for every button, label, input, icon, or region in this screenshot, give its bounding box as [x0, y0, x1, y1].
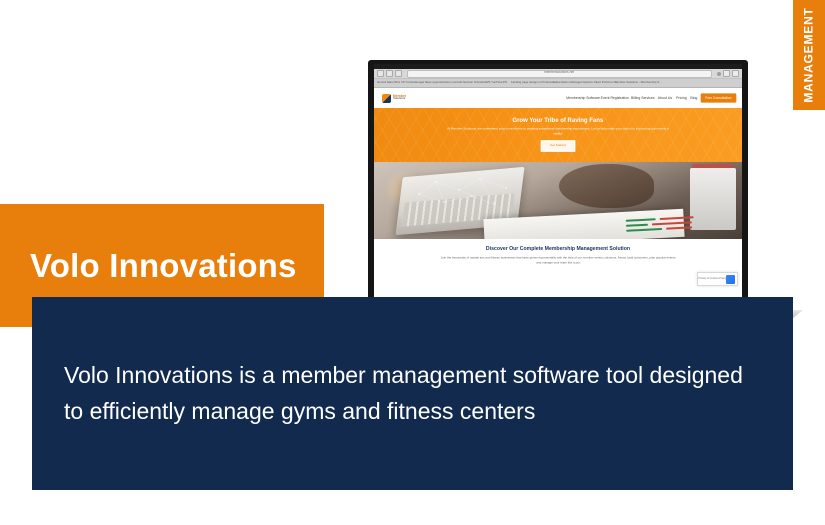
logo-wordmark: Member Solutions — [393, 95, 405, 101]
category-tab-label: MANAGEMENT — [802, 7, 816, 102]
browser-window: membersolutions.net Gemini Nano BC1 727 … — [374, 64, 742, 305]
nav-item-event-registration[interactable]: Event Registration — [601, 96, 629, 99]
laptop-screen: membersolutions.net Gemini Nano BC1 727 … — [368, 60, 748, 310]
logo-mark-icon — [382, 94, 391, 103]
bookmark-item[interactable]: Landing page design on Pinterest... — [511, 82, 556, 85]
photo-chart-bar — [666, 226, 692, 229]
bookmark-item[interactable]: Gemini Nano BC1 727 la Revi... — [377, 82, 418, 85]
photo-chart-bar — [626, 218, 656, 222]
address-bar-url: membersolutions.net — [544, 72, 574, 75]
site-nav: Membership Software Event Registration B… — [569, 94, 734, 102]
laptop-mockup: membersolutions.net Gemini Nano BC1 727 … — [311, 60, 803, 335]
free-consultation-button[interactable]: Free Consultation — [701, 93, 736, 102]
browser-toolbar: membersolutions.net — [374, 69, 742, 79]
photo-chart-bar — [626, 224, 648, 227]
bookmark-item[interactable]: Images Explore Client Portal to C... — [573, 82, 618, 85]
add-tab-icon[interactable] — [723, 70, 730, 77]
site-header: Member Solutions Membership Software Eve… — [374, 88, 742, 108]
description-text: Volo Innovations is a member management … — [64, 358, 757, 429]
bookmark-item[interactable]: AWS YouTube — [484, 82, 502, 85]
hero-title: Grow Your Tribe of Raving Fans — [513, 119, 604, 125]
solution-title: Discover Our Complete Membership Managem… — [374, 247, 742, 252]
nav-item-pricing[interactable]: Pricing — [676, 96, 687, 99]
reload-icon[interactable] — [395, 70, 402, 77]
nav-item-billing-services[interactable]: Billing Services — [631, 96, 655, 99]
nav-item-blog[interactable]: Blog — [691, 96, 698, 99]
description-panel: Volo Innovations is a member management … — [292, 297, 793, 490]
page-title: Volo Innovations — [30, 247, 297, 285]
hero-subtitle: At Member Solutions, we understand your … — [443, 127, 673, 136]
share-icon[interactable] — [717, 72, 721, 76]
bookmark-item[interactable]: Member Solutions - Membership S... — [615, 82, 662, 85]
photo-device — [690, 168, 736, 230]
photo-chart-bar — [626, 228, 662, 232]
bookmark-item[interactable]: Subscription list — [553, 82, 573, 85]
site-logo[interactable]: Member Solutions — [382, 94, 405, 103]
solution-section: Discover Our Complete Membership Managem… — [374, 239, 742, 291]
forward-icon[interactable] — [386, 70, 393, 77]
bookmarks-bar: Gemini Nano BC1 727 la Revi... Google Me… — [374, 79, 742, 88]
photo-network-overlay — [414, 174, 514, 208]
hero-photo — [374, 162, 742, 239]
bookmark-item[interactable]: Nextron Ontrack — [463, 82, 484, 85]
photo-chart-bar — [652, 221, 692, 225]
recaptcha-icon — [726, 275, 735, 284]
logo-sub: Solutions — [393, 98, 406, 101]
solution-text: Join the thousands of martial arts and f… — [440, 257, 676, 266]
recaptcha-label: Privacy & Cookies Policy — [698, 278, 726, 281]
description-inner: Volo Innovations is a member management … — [32, 297, 793, 490]
bookmark-item[interactable]: PO — [503, 82, 507, 85]
hero-section: Grow Your Tribe of Raving Fans At Member… — [374, 108, 742, 162]
nav-item-about-us[interactable]: About Us — [657, 96, 671, 99]
get-started-button[interactable]: Get Started — [541, 140, 575, 151]
back-icon[interactable] — [377, 70, 384, 77]
bookmark-item[interactable]: Amazon controls — [441, 82, 462, 85]
bookmark-item[interactable]: Google Meet system — [415, 82, 441, 85]
recaptcha-badge[interactable]: Privacy & Cookies Policy — [697, 272, 738, 286]
nav-item-membership-software[interactable]: Membership Software — [566, 96, 600, 99]
photo-hand — [559, 164, 654, 208]
slide-canvas: MANAGEMENT membersolutions.net — [0, 0, 825, 525]
address-bar[interactable]: membersolutions.net — [407, 70, 712, 78]
photo-chart-bar — [660, 216, 694, 220]
tabs-icon[interactable] — [732, 70, 739, 77]
